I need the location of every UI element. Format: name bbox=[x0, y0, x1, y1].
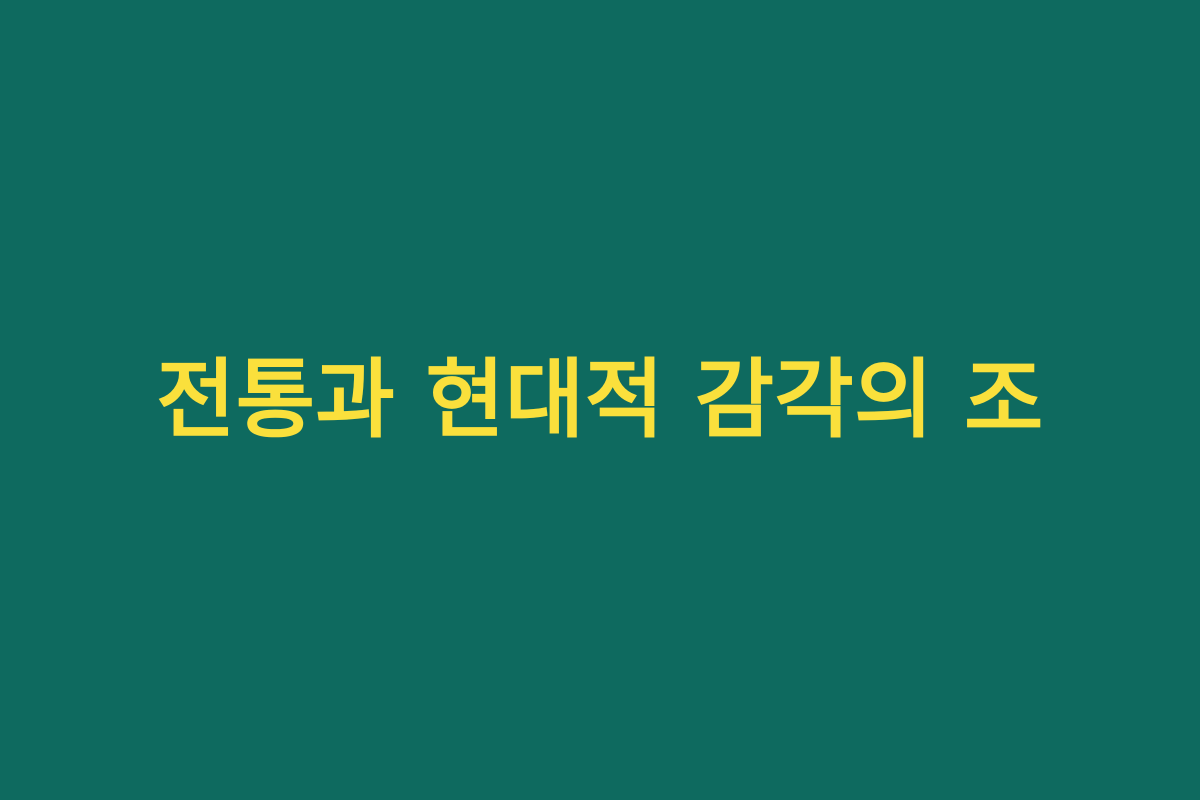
title-line-2: 전통과 현대적 감각의 조 bbox=[70, 336, 1130, 464]
page-title: 추석 인사말 센스 있는 전통과 현대적 감각의 조 화 방법 bbox=[70, 0, 1130, 800]
title-block: 추석 인사말 센스 있는 전통과 현대적 감각의 조 화 방법 bbox=[70, 0, 1130, 800]
thumbnail-card: 추석 인사말 센스 있는 전통과 현대적 감각의 조 화 방법 bbox=[0, 0, 1200, 800]
